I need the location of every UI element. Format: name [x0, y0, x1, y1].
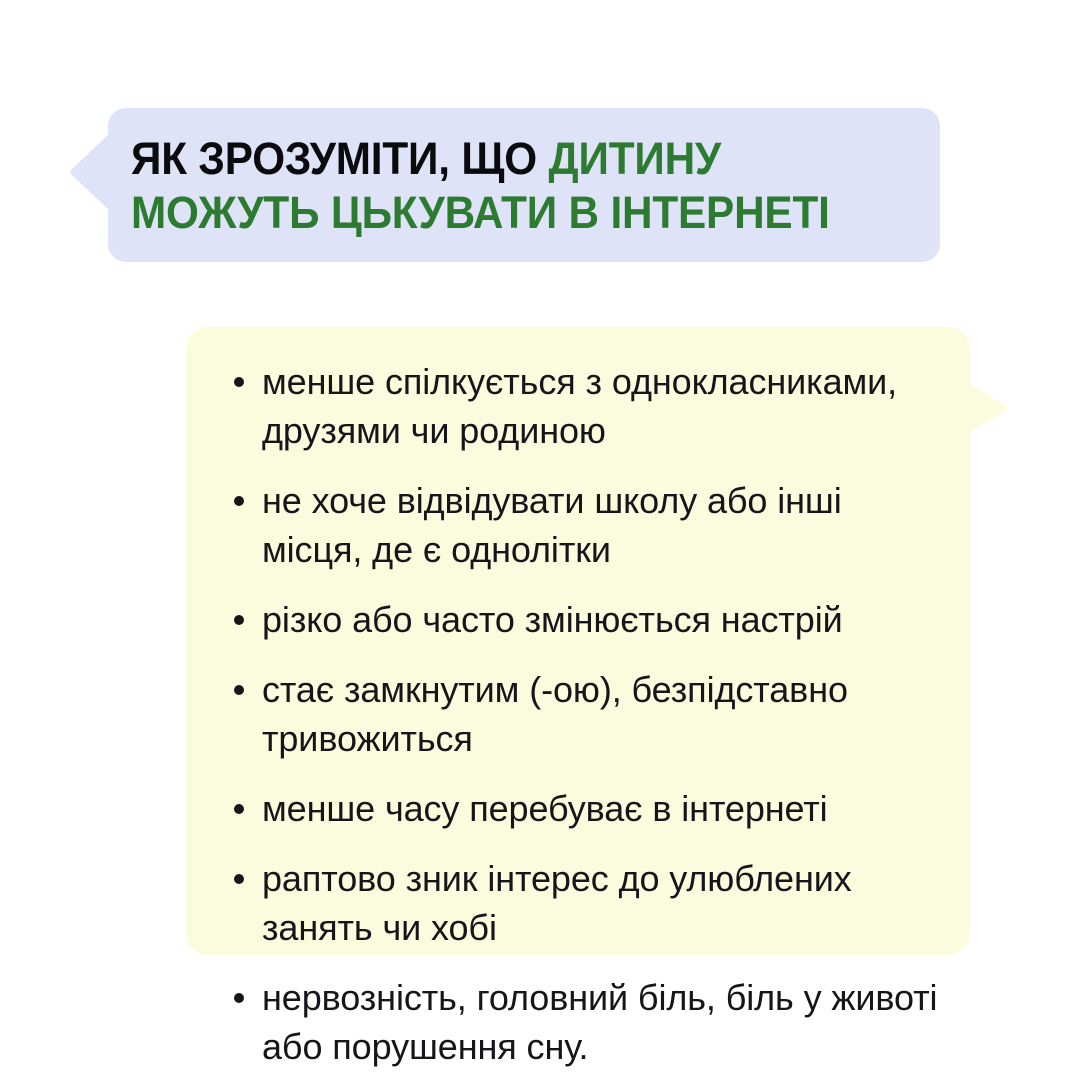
symptoms-list: менше спілкується з однокласниками, друз… [224, 357, 944, 1071]
list-item: різко або часто змінюється настрій [224, 595, 944, 644]
bullet-dot-icon [234, 804, 244, 814]
list-item-label: не хоче відвідувати школу або інші місця… [262, 476, 944, 574]
bullet-dot-icon [234, 615, 244, 625]
header-title-accent-part: ДИТИНУ [549, 133, 722, 184]
list-item: стає замкнутим (-ою), безпідставно триво… [224, 665, 944, 763]
list-item: раптово зник інтерес до улюблених занять… [224, 854, 944, 952]
list-item-label: стає замкнутим (-ою), безпідставно триво… [262, 665, 944, 763]
poster-canvas: ЯК ЗРОЗУМІТИ, ЩО ДИТИНУ МОЖУТЬ ЦЬКУВАТИ … [0, 0, 1080, 1080]
list-item-label: різко або часто змінюється настрій [262, 595, 944, 644]
bullet-dot-icon [234, 685, 244, 695]
header-title-line-2: МОЖУТЬ ЦЬКУВАТИ В ІНТЕРНЕТІ [131, 186, 871, 240]
header-speech-bubble: ЯК ЗРОЗУМІТИ, ЩО ДИТИНУ МОЖУТЬ ЦЬКУВАТИ … [108, 108, 940, 262]
list-item-label: менше часу перебуває в інтернеті [262, 784, 944, 833]
speech-bubble-tail-left-icon [70, 133, 110, 211]
bullet-dot-icon [234, 874, 244, 884]
list-item: менше спілкується з однокласниками, друз… [224, 357, 944, 455]
symptoms-list-card: менше спілкується з однокласниками, друз… [186, 327, 970, 955]
bullet-dot-icon [234, 377, 244, 387]
list-item: не хоче відвідувати школу або інші місця… [224, 476, 944, 574]
list-item-label: нервозність, головний біль, біль у живот… [262, 973, 944, 1071]
list-item: нервозність, головний біль, біль у живот… [224, 973, 944, 1071]
header-title-line-1: ЯК ЗРОЗУМІТИ, ЩО ДИТИНУ [131, 132, 871, 186]
bullet-dot-icon [234, 993, 244, 1003]
list-item-label: раптово зник інтерес до улюблених занять… [262, 854, 944, 952]
list-item-label: менше спілкується з однокласниками, друз… [262, 357, 944, 455]
header-title-dark-part: ЯК ЗРОЗУМІТИ, ЩО [131, 133, 549, 184]
list-item: менше часу перебуває в інтернеті [224, 784, 944, 833]
bullet-dot-icon [234, 496, 244, 506]
